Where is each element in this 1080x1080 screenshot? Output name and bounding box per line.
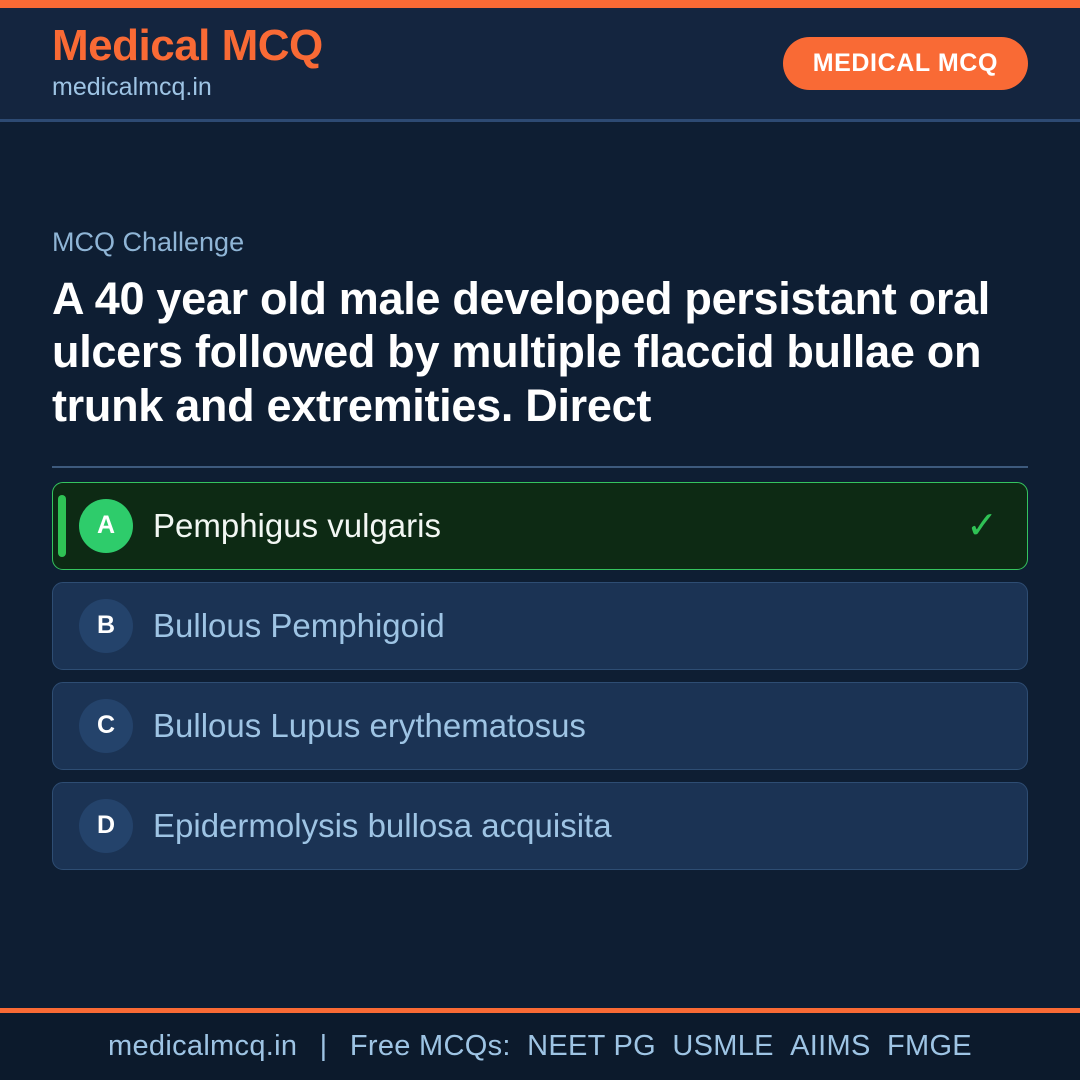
option-letter-d: D <box>79 799 133 853</box>
header-badge: MEDICAL MCQ <box>783 37 1028 90</box>
footer-tag-fmge: FMGE <box>879 1030 972 1062</box>
brand-title: Medical MCQ <box>52 23 323 69</box>
main-content: MCQ Challenge A 40 year old male develop… <box>0 122 1080 1008</box>
footer-tag-aiims: AIIMS <box>782 1030 870 1062</box>
option-row-a[interactable]: A Pemphigus vulgaris ✓ <box>52 482 1028 570</box>
option-row-d[interactable]: D Epidermolysis bullosa acquisita <box>52 782 1028 870</box>
question-text: A 40 year old male developed persistant … <box>52 272 1028 431</box>
option-label-b: Bullous Pemphigoid <box>153 606 965 646</box>
top-accent-bar <box>0 0 1080 8</box>
footer-site: medicalmcq.in <box>108 1030 297 1062</box>
footer-text: medicalmcq.in | Free MCQs: NEET PG USMLE… <box>108 1030 972 1063</box>
option-row-b[interactable]: B Bullous Pemphigoid <box>52 582 1028 670</box>
option-letter-a: A <box>79 499 133 553</box>
footer-tag-neetpg: NEET PG <box>519 1030 656 1062</box>
check-icon: ✓ <box>965 507 999 545</box>
option-label-c: Bullous Lupus erythematosus <box>153 706 965 746</box>
option-label-a: Pemphigus vulgaris <box>153 506 965 546</box>
brand-subtitle: medicalmcq.in <box>52 71 323 105</box>
option-letter-c: C <box>79 699 133 753</box>
mcq-card: Medical MCQ medicalmcq.in MEDICAL MCQ MC… <box>0 0 1080 1080</box>
option-label-d: Epidermolysis bullosa acquisita <box>153 806 965 846</box>
option-letter-b: B <box>79 599 133 653</box>
question-divider <box>52 466 1028 468</box>
options-list: A Pemphigus vulgaris ✓ B Bullous Pemphig… <box>52 482 1028 870</box>
footer-separator: | <box>306 1030 342 1062</box>
footer-promo: Free MCQs: <box>350 1030 511 1062</box>
correct-accent-bar <box>58 495 66 557</box>
footer-tag-usmle: USMLE <box>664 1030 773 1062</box>
footer: medicalmcq.in | Free MCQs: NEET PG USMLE… <box>0 1008 1080 1080</box>
kicker-label: MCQ Challenge <box>52 226 1028 258</box>
brand: Medical MCQ medicalmcq.in <box>52 23 323 105</box>
option-row-c[interactable]: C Bullous Lupus erythematosus <box>52 682 1028 770</box>
header: Medical MCQ medicalmcq.in MEDICAL MCQ <box>0 8 1080 122</box>
